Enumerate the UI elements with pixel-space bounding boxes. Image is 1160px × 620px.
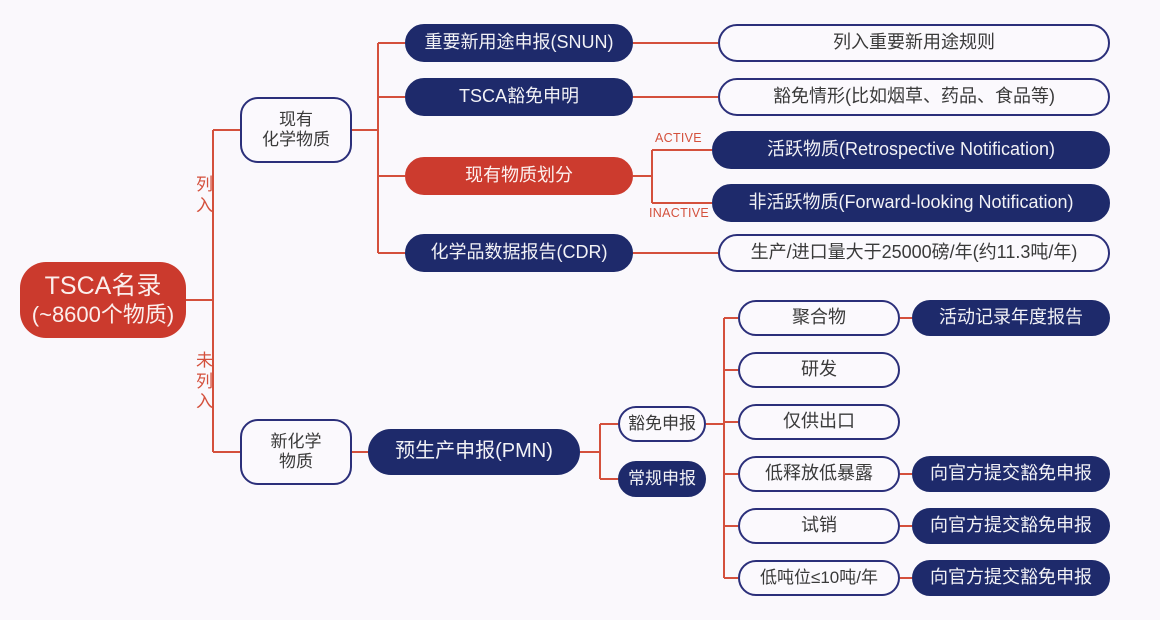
newchem-title-line1: 新化学 — [271, 432, 322, 452]
existing-title-line1: 现有 — [279, 110, 313, 130]
node-action-annual-activity-report[interactable]: 活动记录年度报告 — [912, 300, 1110, 336]
node-cdr[interactable]: 化学品数据报告(CDR) — [405, 234, 633, 272]
node-exemption-low-volume[interactable]: 低吨位≤10吨/年 — [738, 560, 900, 596]
node-exemption-rnd[interactable]: 研发 — [738, 352, 900, 388]
edge-label-inactive: INACTIVE — [649, 206, 709, 220]
edge-label-active: ACTIVE — [655, 131, 702, 145]
node-pmn[interactable]: 预生产申报(PMN) — [368, 429, 580, 475]
node-action-submit-exemption-low-volume[interactable]: 向官方提交豁免申报 — [912, 560, 1110, 596]
node-active-substance[interactable]: 活跃物质(Retrospective Notification) — [712, 131, 1110, 169]
root-node-tsca-inventory[interactable]: TSCA名录 (~8600个物质) — [20, 262, 186, 338]
node-snun[interactable]: 重要新用途申报(SNUN) — [405, 24, 633, 62]
node-exemption-polymer[interactable]: 聚合物 — [738, 300, 900, 336]
root-title-line1: TSCA名录 — [45, 272, 162, 302]
node-action-submit-exemption-test-marketing[interactable]: 向官方提交豁免申报 — [912, 508, 1110, 544]
node-existing-substance-classification[interactable]: 现有物质划分 — [405, 157, 633, 195]
node-exemption-filing[interactable]: 豁免申报 — [618, 406, 706, 442]
node-inactive-substance[interactable]: 非活跃物质(Forward-looking Notification) — [712, 184, 1110, 222]
node-standard-filing[interactable]: 常规申报 — [618, 461, 706, 497]
branch-label-listed: 列入 — [196, 175, 212, 216]
node-existing-chemicals[interactable]: 现有 化学物质 — [240, 97, 352, 163]
node-tsca-exemption-statement[interactable]: TSCA豁免申明 — [405, 78, 633, 116]
node-exemption-export-only[interactable]: 仅供出口 — [738, 404, 900, 440]
node-new-chemicals[interactable]: 新化学 物质 — [240, 419, 352, 485]
newchem-title-line2: 物质 — [279, 452, 313, 472]
root-title-line2: (~8600个物质) — [32, 302, 174, 328]
node-exemption-test-marketing[interactable]: 试销 — [738, 508, 900, 544]
node-snun-result[interactable]: 列入重要新用途规则 — [718, 24, 1110, 62]
branch-label-unlisted: 未列入 — [196, 351, 212, 413]
node-action-submit-exemption-lolv[interactable]: 向官方提交豁免申报 — [912, 456, 1110, 492]
existing-title-line2: 化学物质 — [262, 130, 330, 150]
node-tsca-exemption-result[interactable]: 豁免情形(比如烟草、药品、食品等) — [718, 78, 1110, 116]
flowchart-canvas: TSCA名录 (~8600个物质) 列入 未列入 现有 化学物质 重要新用途申报… — [0, 0, 1160, 620]
node-cdr-result[interactable]: 生产/进口量大于25000磅/年(约11.3吨/年) — [718, 234, 1110, 272]
node-exemption-lolv[interactable]: 低释放低暴露 — [738, 456, 900, 492]
